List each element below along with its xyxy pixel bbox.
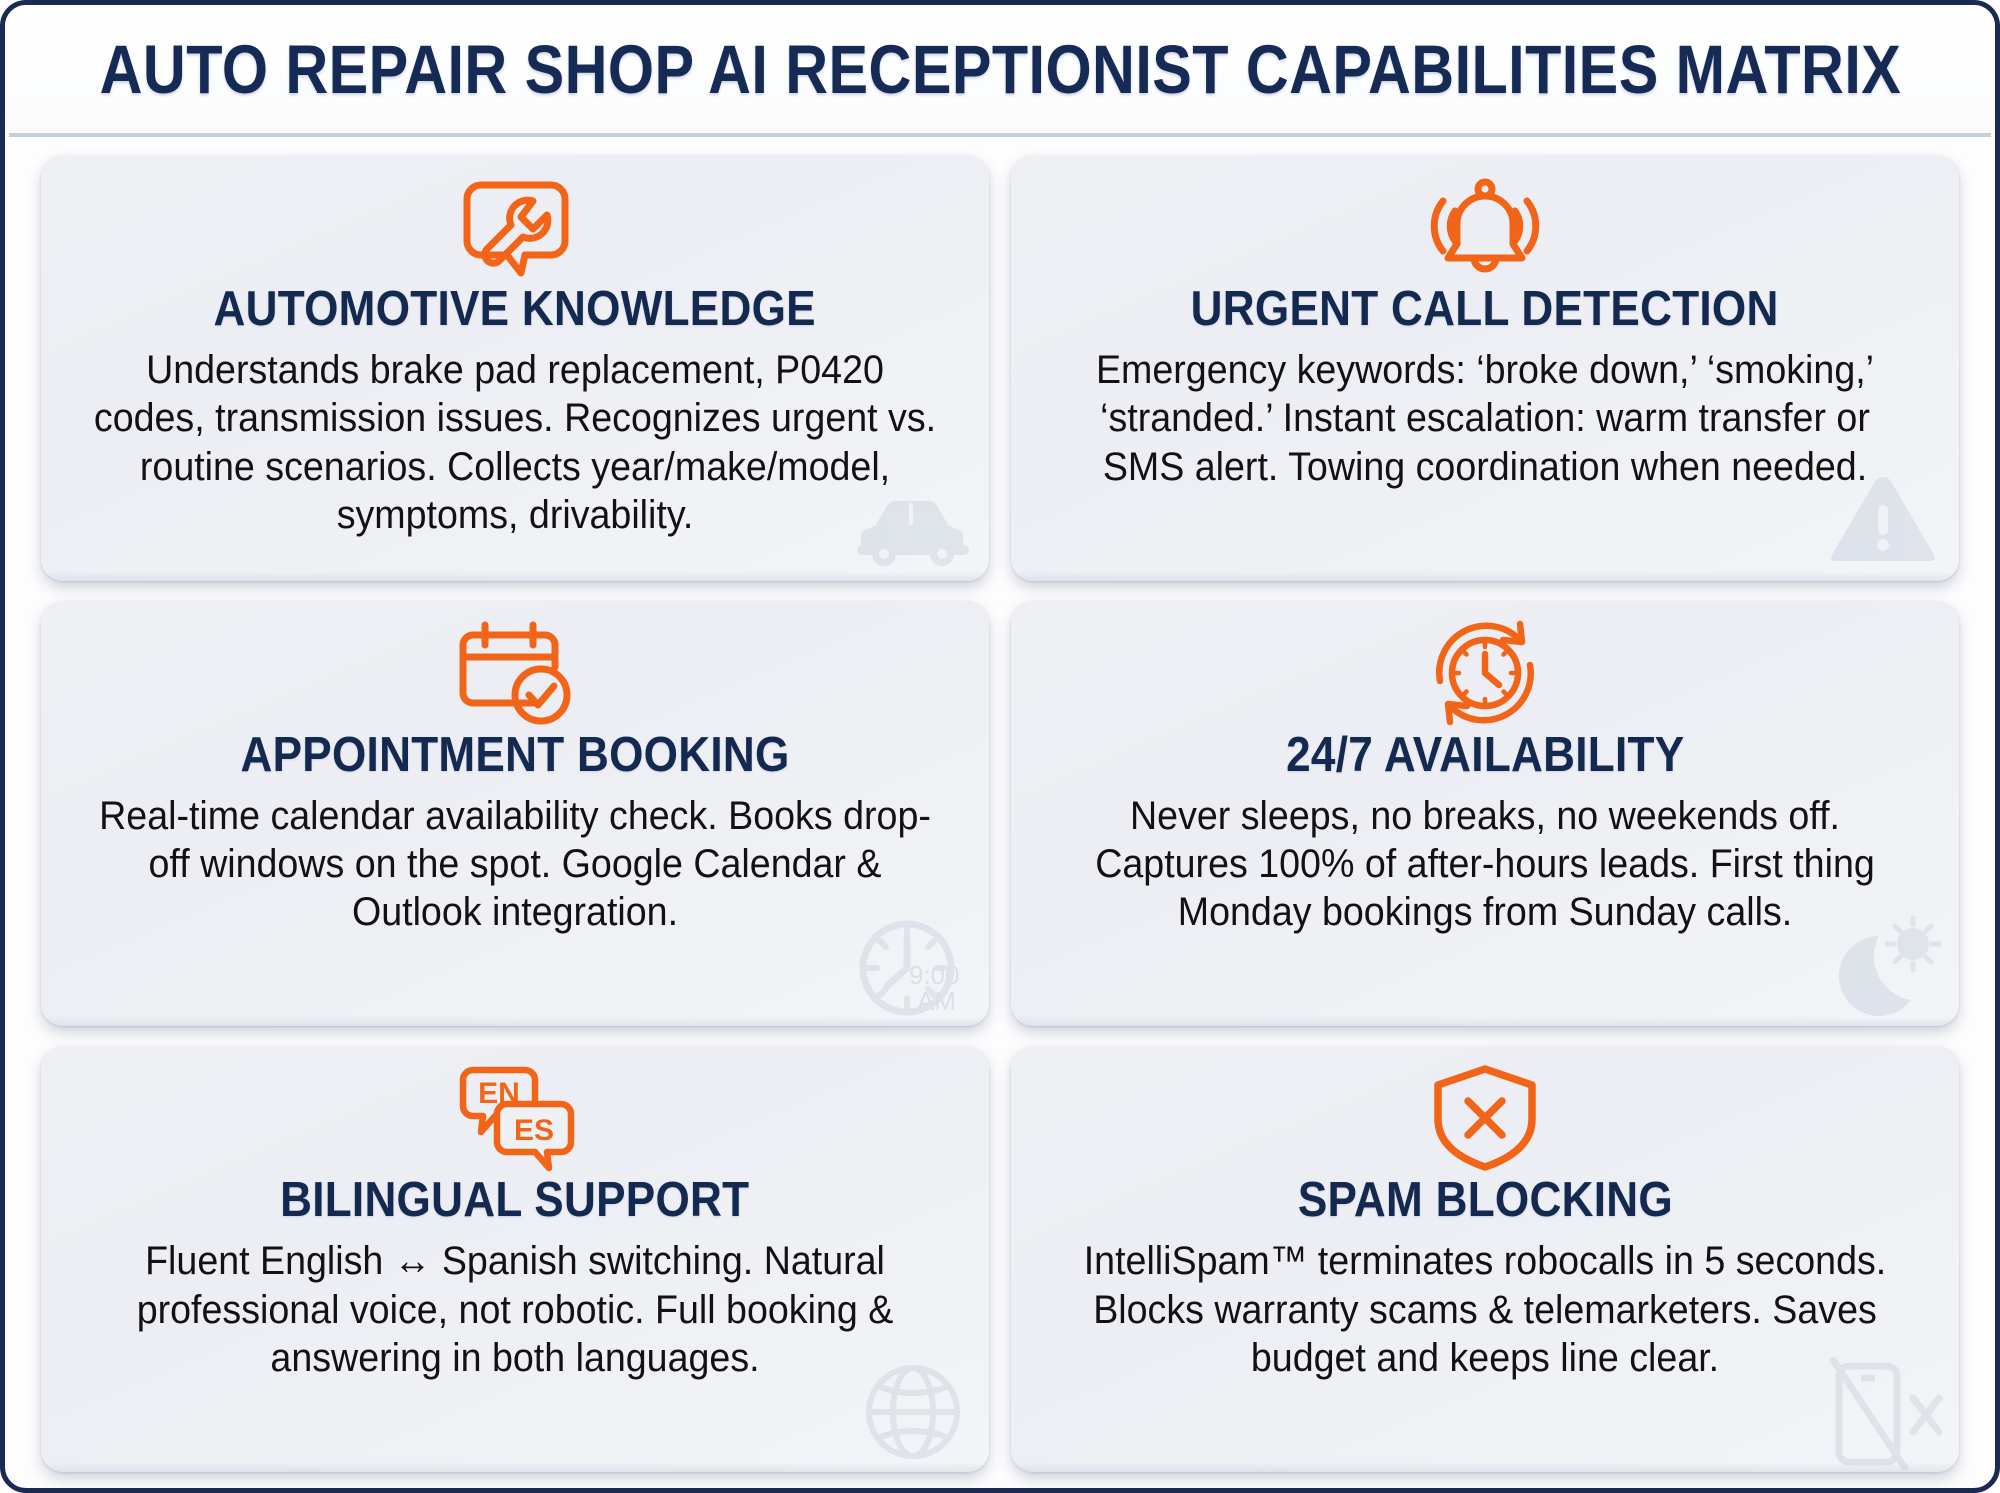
card-urgent-call-detection[interactable]: URGENT CALL DETECTION Emergency keywords… [1011,155,1959,581]
card-body: Fluent English ↔ Spanish switching. Natu… [94,1237,936,1382]
card-body: IntelliSpam™ terminates robocalls in 5 s… [1064,1237,1906,1382]
card-title: APPOINTMENT BOOKING [240,727,789,783]
shield-x-icon [1428,1068,1542,1168]
infographic-root: AUTO REPAIR SHOP AI RECEPTIONIST CAPABIL… [0,0,2000,1493]
page-title: AUTO REPAIR SHOP AI RECEPTIONIST CAPABIL… [99,30,1901,109]
card-title: SPAM BLOCKING [1297,1172,1672,1228]
card-spam-blocking[interactable]: SPAM BLOCKING IntelliSpam™ terminates ro… [1011,1046,1959,1472]
en-es-speech-bubbles-icon: EN ES [449,1068,581,1168]
capabilities-grid: AUTOMOTIVE KNOWLEDGE Understands brake p… [5,137,1995,1493]
clock-watermark-time-line1: 9:00 [909,960,960,990]
icon-label-en: EN [478,1077,520,1110]
card-title: URGENT CALL DETECTION [1191,281,1779,337]
ringing-bell-icon [1410,177,1560,277]
card-title: AUTOMOTIVE KNOWLEDGE [214,281,816,337]
card-body: Emergency keywords: ‘broke down,’ ‘smoki… [1064,346,1906,491]
card-bilingual-support[interactable]: EN ES BILINGUAL SUPPORT Fluent English ↔… [41,1046,989,1472]
card-body: Never sleeps, no breaks, no weekends off… [1064,792,1906,937]
card-automotive-knowledge[interactable]: AUTOMOTIVE KNOWLEDGE Understands brake p… [41,155,989,581]
header: AUTO REPAIR SHOP AI RECEPTIONIST CAPABIL… [5,5,1995,133]
card-title: BILINGUAL SUPPORT [280,1172,749,1228]
card-appointment-booking[interactable]: APPOINTMENT BOOKING Real-time calendar a… [41,601,989,1027]
clock-rotate-icon [1424,623,1546,723]
card-body: Understands brake pad replacement, P0420… [94,346,936,540]
wrench-speech-bubble-icon [451,177,579,277]
card-availability-247[interactable]: 24/7 AVAILABILITY Never sleeps, no break… [1011,601,1959,1027]
calendar-check-icon [451,623,579,723]
card-body: Real-time calendar availability check. B… [94,792,936,937]
card-title: 24/7 AVAILABILITY [1286,727,1684,783]
icon-label-es: ES [514,1114,554,1147]
clock-watermark-time-line2: AM [917,986,956,1016]
